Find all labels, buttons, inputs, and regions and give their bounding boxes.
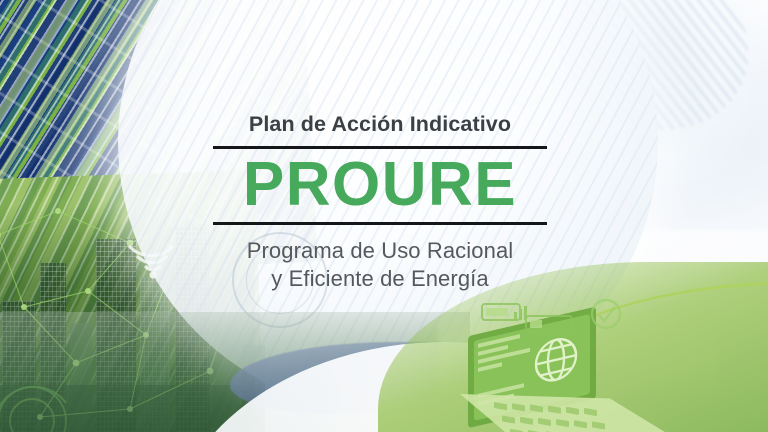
divider-top	[213, 146, 547, 149]
divider-bottom	[213, 222, 547, 225]
subtitle-line-2: y Eficiente de Energía	[205, 265, 555, 293]
leaf-check-icon	[592, 300, 620, 328]
subtitle-line-1: Programa de Uso Racional	[205, 237, 555, 265]
kicker-text: Plan de Acción Indicativo	[205, 112, 555, 137]
laptop-technology-image	[460, 298, 760, 432]
title-block: Plan de Acción Indicativo PROURE Program…	[205, 112, 555, 293]
proure-cover-slide: Plan de Acción Indicativo PROURE Program…	[0, 0, 768, 432]
brand-title: PROURE	[205, 153, 555, 216]
